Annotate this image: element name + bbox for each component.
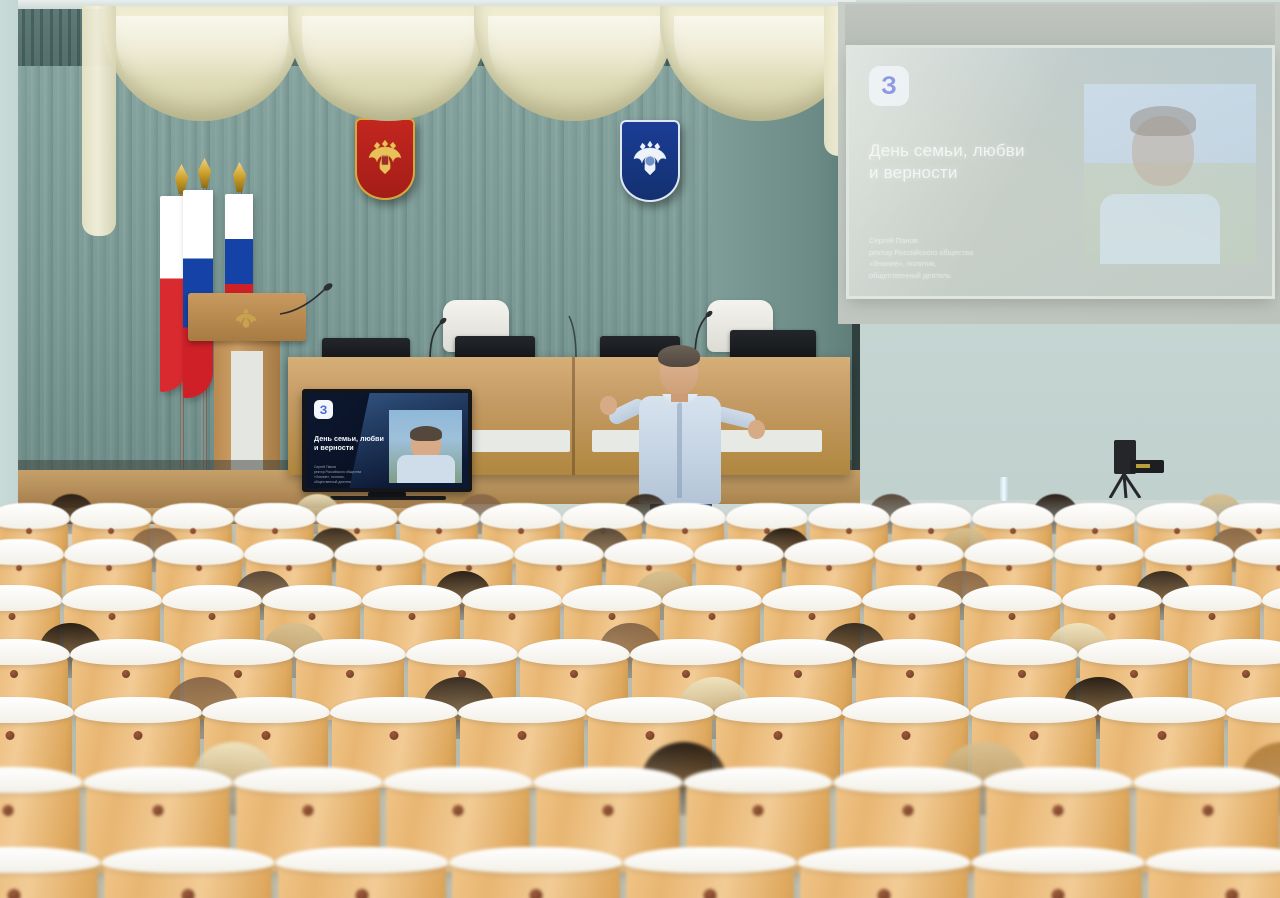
seat-button	[182, 889, 195, 898]
slide-credit-line2: ректор Российского общества	[869, 247, 1074, 259]
seat-headrest	[1136, 503, 1217, 529]
seat-button	[262, 731, 271, 740]
auditorium-seat[interactable]	[626, 856, 794, 898]
seat-button	[1174, 528, 1180, 534]
seat-button	[846, 528, 852, 534]
slide-title-line2: и верности	[869, 162, 1089, 184]
auditorium-seat[interactable]	[278, 856, 446, 898]
seat-headrest	[1078, 639, 1190, 665]
seat-headrest	[808, 503, 889, 529]
seat-button	[509, 613, 516, 620]
seat-headrest	[262, 585, 362, 611]
tv-stand	[368, 492, 406, 497]
seat-headrest	[623, 847, 798, 873]
seat-button	[906, 670, 914, 678]
seat-button	[1256, 528, 1262, 534]
seat-button	[153, 805, 164, 816]
seat-button	[909, 613, 916, 620]
seat-headrest	[234, 503, 315, 529]
seat-headrest	[586, 697, 715, 723]
speaker-hand-right	[748, 420, 765, 439]
seat-headrest	[964, 539, 1053, 565]
auditorium-seat[interactable]	[800, 856, 968, 898]
speaker-shirt-placket	[677, 400, 682, 498]
seat-button	[709, 613, 716, 620]
pelmet-pleat	[68, 9, 71, 66]
ministry-emblem-icon	[620, 120, 680, 202]
seat-button	[753, 805, 764, 816]
seat-headrest	[480, 503, 561, 529]
seat-button	[8, 889, 21, 898]
seat-button	[390, 731, 399, 740]
seat-headrest	[330, 697, 459, 723]
podium-crest-icon	[232, 305, 260, 329]
seat-button	[108, 528, 114, 534]
seat-headrest	[842, 697, 971, 723]
seat-button	[309, 613, 316, 620]
seat-button	[1010, 528, 1016, 534]
presidium-microphone-3	[564, 302, 584, 358]
seat-headrest	[398, 503, 479, 529]
seat-headrest	[275, 847, 450, 873]
seat-button	[794, 670, 802, 678]
seat-button	[6, 731, 15, 740]
curtain-pleat	[44, 58, 53, 498]
seat-headrest	[890, 503, 971, 529]
curtain-pleat	[149, 58, 158, 498]
seat-headrest	[644, 503, 725, 529]
seat-button	[1130, 670, 1138, 678]
seat-button	[134, 731, 143, 740]
podium-microphone-icon	[276, 282, 334, 316]
seat-headrest	[316, 503, 397, 529]
seat-headrest	[70, 639, 182, 665]
auditorium-seat[interactable]	[0, 856, 98, 898]
seat-button	[570, 670, 578, 678]
projection-screen-header	[845, 4, 1275, 46]
seat-button	[1030, 731, 1039, 740]
curtain-pleat	[70, 58, 79, 498]
seat-headrest	[62, 585, 162, 611]
seat-headrest	[784, 539, 873, 565]
seat-headrest	[334, 539, 423, 565]
seat-button	[190, 528, 196, 534]
seat-button	[518, 528, 524, 534]
seat-headrest	[64, 539, 153, 565]
seat-button	[774, 731, 783, 740]
seat-button	[436, 528, 442, 534]
speaker-hair	[658, 345, 700, 367]
pelmet-pleat	[40, 9, 43, 66]
seat-headrest	[294, 639, 406, 665]
seat-headrest	[533, 767, 683, 793]
pelmet-pleat	[22, 9, 25, 66]
seat-headrest	[962, 585, 1062, 611]
seat-button	[1092, 528, 1098, 534]
seat-headrest	[562, 585, 662, 611]
seat-button	[1009, 613, 1016, 620]
seat-button	[26, 528, 32, 534]
seat-headrest	[966, 639, 1078, 665]
speaker-hand-left	[600, 396, 617, 415]
desk-front-band-3	[718, 430, 822, 452]
seat-headrest	[1144, 539, 1233, 565]
slide-title: День семьи, любви и верности	[869, 140, 1089, 184]
seat-button	[354, 528, 360, 534]
seat-headrest	[683, 767, 833, 793]
seat-headrest	[833, 767, 983, 793]
seat-button	[109, 613, 116, 620]
seat-button	[196, 565, 202, 571]
seat-button	[466, 565, 472, 571]
slide-credit-line1: Сергей Панов	[869, 235, 1074, 247]
projection-screen: З День семьи, любви и верности Сергей Па…	[849, 48, 1272, 296]
seat-headrest	[970, 697, 1099, 723]
seat-button	[409, 613, 416, 620]
pelmet-pleat	[50, 9, 53, 66]
seat-headrest	[406, 639, 518, 665]
seat-button	[1052, 889, 1065, 898]
curtain-pleat	[57, 58, 66, 498]
seat-button	[903, 805, 914, 816]
seat-button	[286, 565, 292, 571]
seat-button	[682, 528, 688, 534]
seat-headrest	[662, 585, 762, 611]
seat-button	[1158, 731, 1167, 740]
seat-button	[1203, 805, 1214, 816]
seat-headrest	[514, 539, 603, 565]
seat-button	[1226, 889, 1239, 898]
seat-headrest	[383, 767, 533, 793]
seat-button	[346, 670, 354, 678]
seat-headrest	[101, 847, 276, 873]
seat-headrest	[70, 503, 151, 529]
seat-headrest	[362, 585, 462, 611]
seat-headrest	[1218, 503, 1280, 529]
seat-button	[1096, 565, 1102, 571]
auditorium-seat[interactable]	[452, 856, 620, 898]
seat-headrest	[162, 585, 262, 611]
curtain-pleat	[31, 58, 40, 498]
seat-button	[106, 565, 112, 571]
znanie-logo-icon: З	[869, 66, 909, 106]
auditorium-photo: З День семьи, любви и верности Сергей Па…	[0, 0, 1280, 898]
znanie-logo-icon-tv: З	[314, 400, 333, 419]
seat-button	[826, 565, 832, 571]
seat-headrest	[694, 539, 783, 565]
seat-button	[1053, 805, 1064, 816]
auditorium-seat[interactable]	[1148, 856, 1280, 898]
seat-headrest	[1162, 585, 1262, 611]
seat-button	[122, 670, 130, 678]
video-camera-icon	[1100, 440, 1174, 498]
seat-headrest	[154, 539, 243, 565]
seat-button	[272, 528, 278, 534]
seat-button	[9, 613, 16, 620]
seat-button	[356, 889, 369, 898]
stage-monitor-portrait	[389, 410, 462, 483]
seat-headrest	[971, 847, 1146, 873]
seat-headrest	[972, 503, 1053, 529]
seat-button	[303, 805, 314, 816]
pelmet-pleat	[77, 9, 80, 66]
seat-button	[376, 565, 382, 571]
seat-button	[809, 613, 816, 620]
seat-button	[10, 670, 18, 678]
seat-headrest	[0, 503, 70, 529]
seat-headrest	[152, 503, 233, 529]
seat-button	[234, 670, 242, 678]
seat-headrest	[182, 639, 294, 665]
seat-headrest	[726, 503, 807, 529]
seat-button	[603, 805, 614, 816]
seat-button	[916, 565, 922, 571]
seat-headrest	[233, 767, 383, 793]
seat-headrest	[202, 697, 331, 723]
seat-button	[556, 565, 562, 571]
seat-headrest	[518, 639, 630, 665]
seat-headrest	[74, 697, 203, 723]
pelmet-pleat	[31, 9, 34, 66]
seat-headrest	[462, 585, 562, 611]
seat-button	[736, 565, 742, 571]
desk-front-band-1	[466, 430, 570, 452]
seat-headrest	[874, 539, 963, 565]
seat-button	[16, 565, 22, 571]
seat-button	[1242, 670, 1250, 678]
seat-button	[1186, 565, 1192, 571]
seat-button	[704, 889, 717, 898]
znanie-logo-glyph-tv: З	[320, 404, 328, 416]
water-bottle	[1000, 477, 1008, 501]
seat-headrest	[244, 539, 333, 565]
seat-button	[646, 731, 655, 740]
seat-button	[878, 889, 891, 898]
seat-headrest	[1054, 503, 1135, 529]
seat-headrest	[854, 639, 966, 665]
stage-monitor: З День семьи, любви и верности Сергей Па…	[302, 389, 472, 492]
znanie-logo-glyph: З	[881, 74, 897, 99]
seat-button	[1209, 613, 1216, 620]
auditorium-seat[interactable]	[974, 856, 1142, 898]
seat-button	[902, 731, 911, 740]
seat-button	[518, 731, 527, 740]
curtain-pleat	[18, 58, 27, 498]
seat-headrest	[424, 539, 513, 565]
seat-headrest	[458, 697, 587, 723]
slide-credit-line3: «Знание», политик,	[869, 258, 1074, 270]
seat-headrest	[449, 847, 624, 873]
curtain-pleat	[136, 58, 145, 498]
seat-headrest	[83, 767, 233, 793]
slide-credit-line4: общественный деятель	[869, 270, 1074, 282]
seat-headrest	[1098, 697, 1227, 723]
coat-of-arms-russia-icon	[355, 118, 415, 200]
seat-headrest	[1054, 539, 1143, 565]
seat-button	[682, 670, 690, 678]
seat-headrest	[1062, 585, 1162, 611]
seat-headrest	[862, 585, 962, 611]
seat-headrest	[1190, 639, 1280, 665]
seat-button	[530, 889, 543, 898]
slide-credit: Сергей Панов ректор Российского общества…	[869, 235, 1074, 282]
seat-button	[453, 805, 464, 816]
seat-button	[609, 613, 616, 620]
desk-panel-seam	[572, 357, 575, 475]
seat-headrest	[630, 639, 742, 665]
seat-button	[1276, 565, 1280, 571]
seat-headrest	[742, 639, 854, 665]
seat-headrest	[983, 767, 1133, 793]
presidium-microphone-1	[424, 308, 448, 360]
curtain-pleat	[123, 58, 132, 498]
seat-headrest	[604, 539, 693, 565]
seat-headrest	[562, 503, 643, 529]
slide-title-line1: День семьи, любви	[869, 140, 1089, 162]
seat-button	[209, 613, 216, 620]
seat-button	[3, 805, 14, 816]
auditorium-seat[interactable]	[104, 856, 272, 898]
seat-button	[646, 565, 652, 571]
seat-headrest	[714, 697, 843, 723]
seat-headrest	[1133, 767, 1280, 793]
seat-button	[1006, 565, 1012, 571]
pelmet-pleat	[59, 9, 62, 66]
seat-button	[928, 528, 934, 534]
seat-headrest	[762, 585, 862, 611]
seat-button	[1109, 613, 1116, 620]
valance-tail-left	[82, 6, 116, 236]
seat-headrest	[797, 847, 972, 873]
seat-button	[1018, 670, 1026, 678]
